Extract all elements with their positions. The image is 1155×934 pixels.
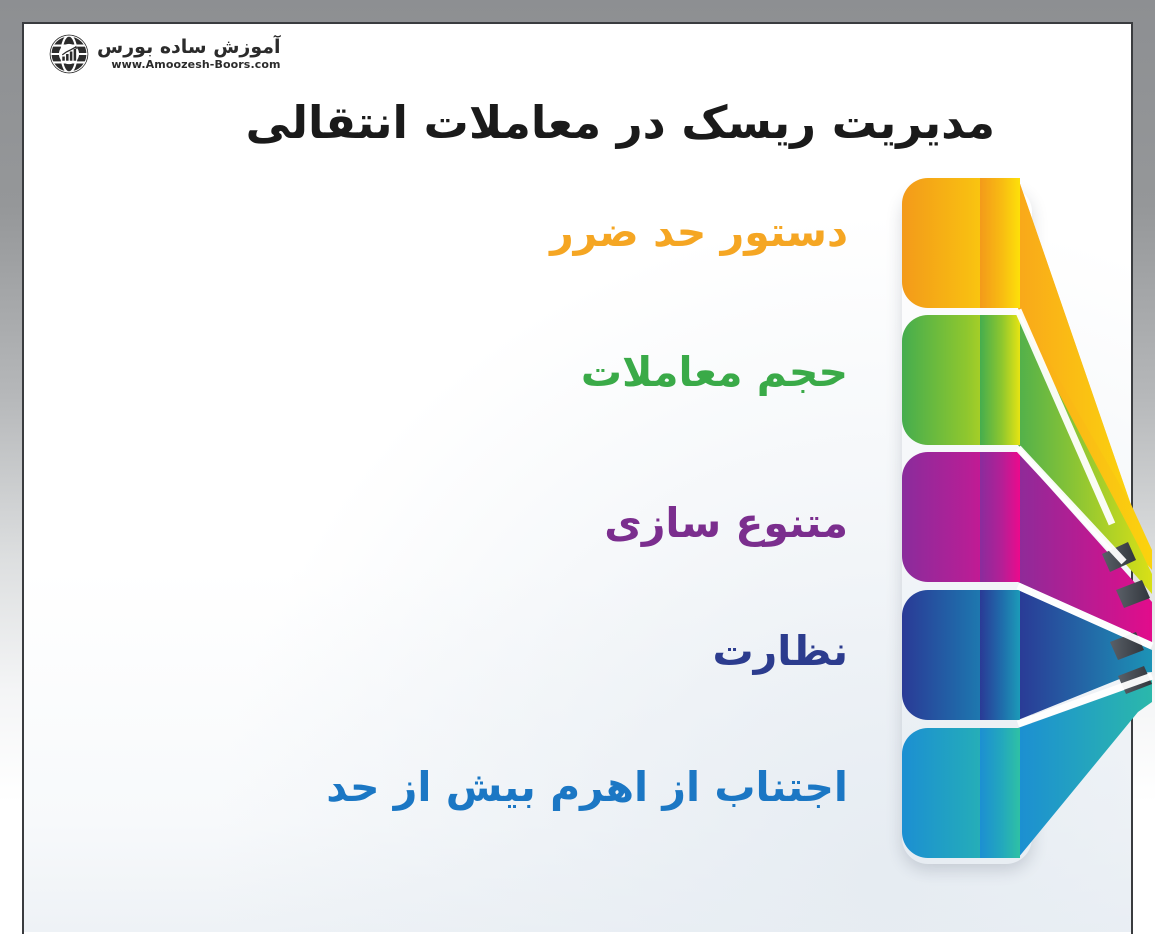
item-label-5: اجتناب از اهرم بیش از حد: [326, 767, 848, 808]
item-label-4: نظارت: [712, 631, 848, 672]
globe-chart-icon: [48, 33, 90, 75]
item-label-3: متنوع سازی: [604, 503, 848, 544]
brand-name: آموزش ساده بورس: [97, 38, 281, 57]
brand-logo-text: آموزش ساده بورس www.Amoozesh-Boors.com: [97, 38, 281, 70]
brand-logo[interactable]: آموزش ساده بورس www.Amoozesh-Boors.com: [48, 33, 281, 75]
page-title: مدیریت ریسک در معاملات انتقالی: [155, 96, 995, 149]
converging-arrow-funnel: [860, 150, 1155, 890]
item-label-1: دستور حد ضرر: [550, 212, 848, 253]
brand-url: www.Amoozesh-Boors.com: [111, 59, 280, 70]
item-label-2: حجم معاملات: [581, 352, 848, 393]
infographic-page: آموزش ساده بورس www.Amoozesh-Boors.com م…: [0, 0, 1155, 934]
